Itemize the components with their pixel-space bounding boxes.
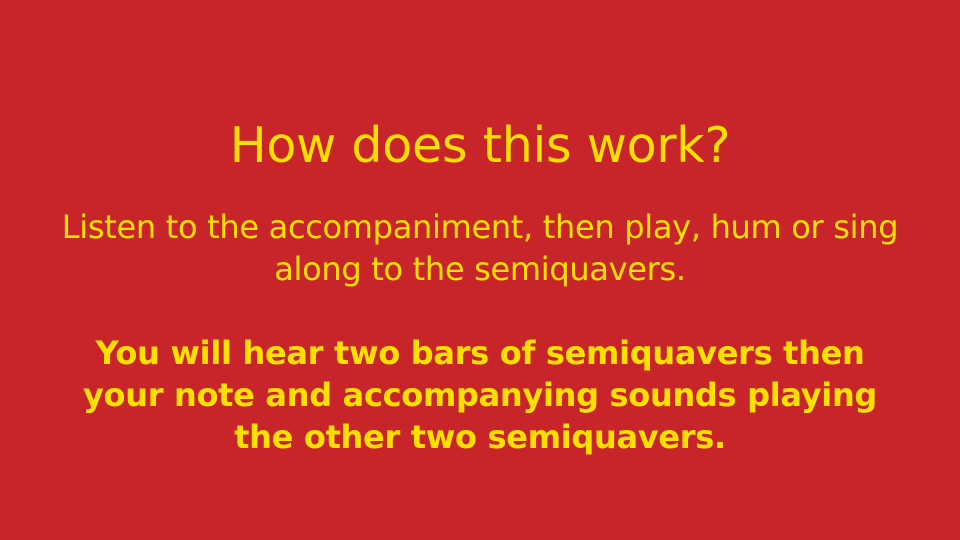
page-title: How does this work? (0, 117, 960, 175)
body-paragraph-emphasis: You will hear two bars of semiquavers th… (60, 332, 900, 458)
paragraph-spacer (60, 290, 900, 332)
body-paragraph-instructions: Listen to the accompaniment, then play, … (60, 206, 900, 290)
slide-body-text: Listen to the accompaniment, then play, … (60, 206, 900, 458)
presentation-slide: How does this work? Listen to the accomp… (0, 0, 960, 540)
